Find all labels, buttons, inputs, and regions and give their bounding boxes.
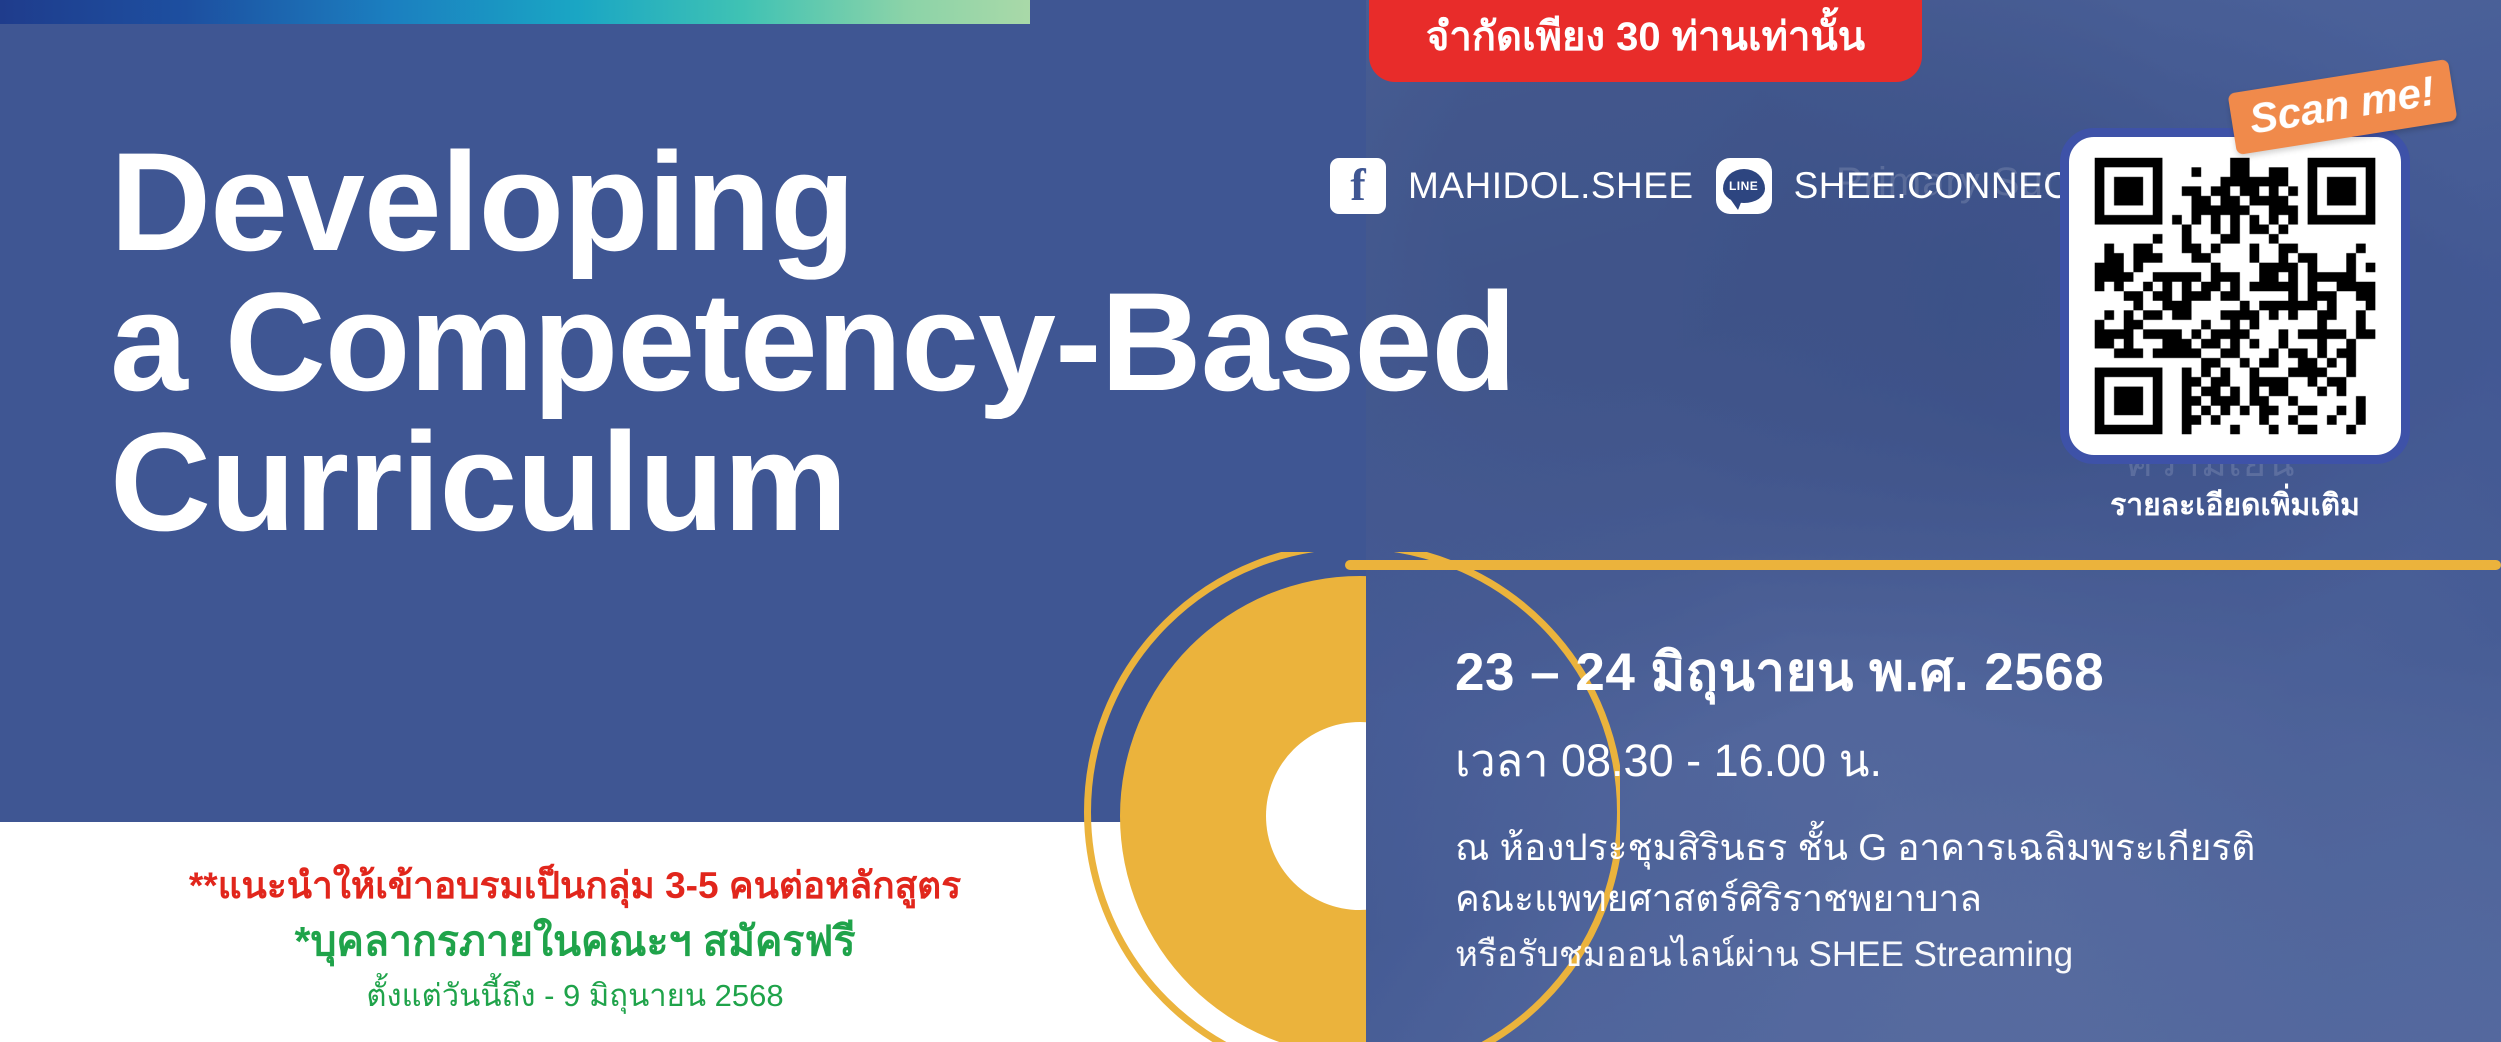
- event-time: เวลา 08.30 - 16.00 น.: [1455, 724, 2465, 796]
- limit-badge: จำกัดเพียง 30 ท่านเท่านั้น: [1369, 0, 1922, 82]
- event-venue-line-2: คณะแพทยศาสตร์ศิริราชพยาบาล: [1455, 873, 2465, 924]
- headline-line-3: Curriculum: [110, 412, 1350, 552]
- qr-block: Scan me! รายละเอียดเพิ่มเติม: [2060, 128, 2410, 529]
- line-bubble: LINE: [1723, 169, 1765, 203]
- line-handle: SHEE.CONNECT: [1794, 165, 2094, 207]
- top-gradient-bar: [0, 0, 1030, 24]
- line-icon[interactable]: LINE: [1716, 158, 1772, 214]
- facebook-handle: MAHIDOL.SHEE: [1408, 165, 1694, 207]
- note-free-for-staff: *บุคลากรภายในคณะฯ สมัครฟรี: [0, 914, 1150, 969]
- line-icon-text: LINE: [1729, 179, 1758, 193]
- qr-frame[interactable]: [2060, 128, 2410, 464]
- poster-canvas: Primary Survey LW LW ความเย็น แล ปวด และ…: [0, 0, 2501, 1042]
- social-row: MAHIDOL.SHEE LINE SHEE.CONNECT: [1330, 158, 2094, 214]
- headline-line-2: a Competency-Based: [110, 272, 1350, 412]
- event-streaming-note: หรือรับชมออนไลน์ผ่าน SHEE Streaming: [1455, 930, 2465, 981]
- note-group-recommendation: **แนะนำให้เข้าอบรมเป็นกลุ่ม 3-5 คนต่อหลั…: [0, 862, 1150, 910]
- note-registration-deadline: ตั้งแต่วันนี้ถึง - 9 มิถุนายน 2568: [0, 975, 1150, 1017]
- event-venue-line-1: ณ ห้องประชุมสิรินธร ชั้น G อาคารเฉลิมพระ…: [1455, 822, 2465, 873]
- headline-line-1: Developing: [110, 132, 1350, 272]
- event-info-block: 23 – 24 มิถุนายน พ.ศ. 2568 เวลา 08.30 - …: [1455, 630, 2465, 981]
- page-title: Developing a Competency-Based Curriculum: [110, 132, 1350, 552]
- facebook-icon[interactable]: [1330, 158, 1386, 214]
- footer-notes: **แนะนำให้เข้าอบรมเป็นกลุ่ม 3-5 คนต่อหลั…: [0, 862, 1150, 1017]
- qr-caption: รายละเอียดเพิ่มเติม: [2060, 482, 2410, 529]
- yellow-divider-rule: [1345, 560, 2501, 570]
- qr-code-image[interactable]: [2085, 153, 2385, 439]
- limit-badge-label: จำกัดเพียง 30 ท่านเท่านั้น: [1426, 4, 1865, 68]
- event-date: 23 – 24 มิถุนายน พ.ศ. 2568: [1455, 630, 2465, 714]
